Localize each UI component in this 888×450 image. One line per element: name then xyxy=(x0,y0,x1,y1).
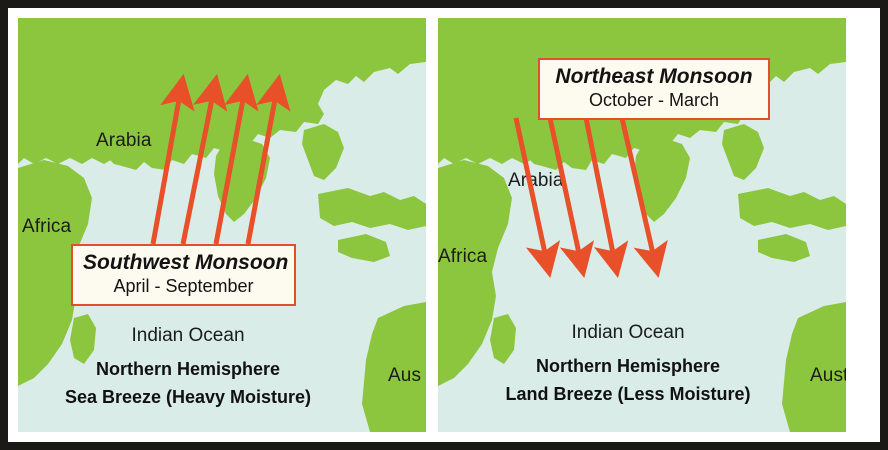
callout-title: Northeast Monsoon xyxy=(550,65,758,89)
ocean-label-indian-ocean: Indian Ocean xyxy=(458,322,798,344)
map-label-africa: Africa xyxy=(438,246,487,268)
annotation-hemisphere: Northern Hemisphere xyxy=(18,359,358,380)
map-label-australia: Aust xyxy=(810,365,846,387)
annotation-breeze: Land Breeze (Less Moisture) xyxy=(458,384,798,405)
panel-container: Arabia Africa Aus Southwest Monsoon Apri… xyxy=(18,18,870,432)
northeast-monsoon-callout: Northeast Monsoon October - March xyxy=(538,58,770,120)
callout-title: Southwest Monsoon xyxy=(83,251,284,275)
callout-subtitle: April - September xyxy=(83,276,284,297)
annotation-hemisphere: Northern Hemisphere xyxy=(458,356,798,377)
map-label-australia: Aus xyxy=(388,365,421,387)
map-label-africa: Africa xyxy=(22,216,71,238)
monsoon-diagram: Arabia Africa Aus Southwest Monsoon Apri… xyxy=(0,0,888,450)
map-label-arabia: Arabia xyxy=(508,170,564,192)
annotation-breeze: Sea Breeze (Heavy Moisture) xyxy=(18,387,358,408)
map-label-arabia: Arabia xyxy=(96,130,152,152)
southwest-monsoon-panel: Arabia Africa Aus Southwest Monsoon Apri… xyxy=(18,18,426,432)
callout-subtitle: October - March xyxy=(550,90,758,111)
ocean-label-indian-ocean: Indian Ocean xyxy=(18,325,358,347)
southwest-monsoon-callout: Southwest Monsoon April - September xyxy=(71,244,296,306)
northeast-monsoon-panel: Arabia Africa Aust Northeast Monsoon Oct… xyxy=(438,18,846,432)
